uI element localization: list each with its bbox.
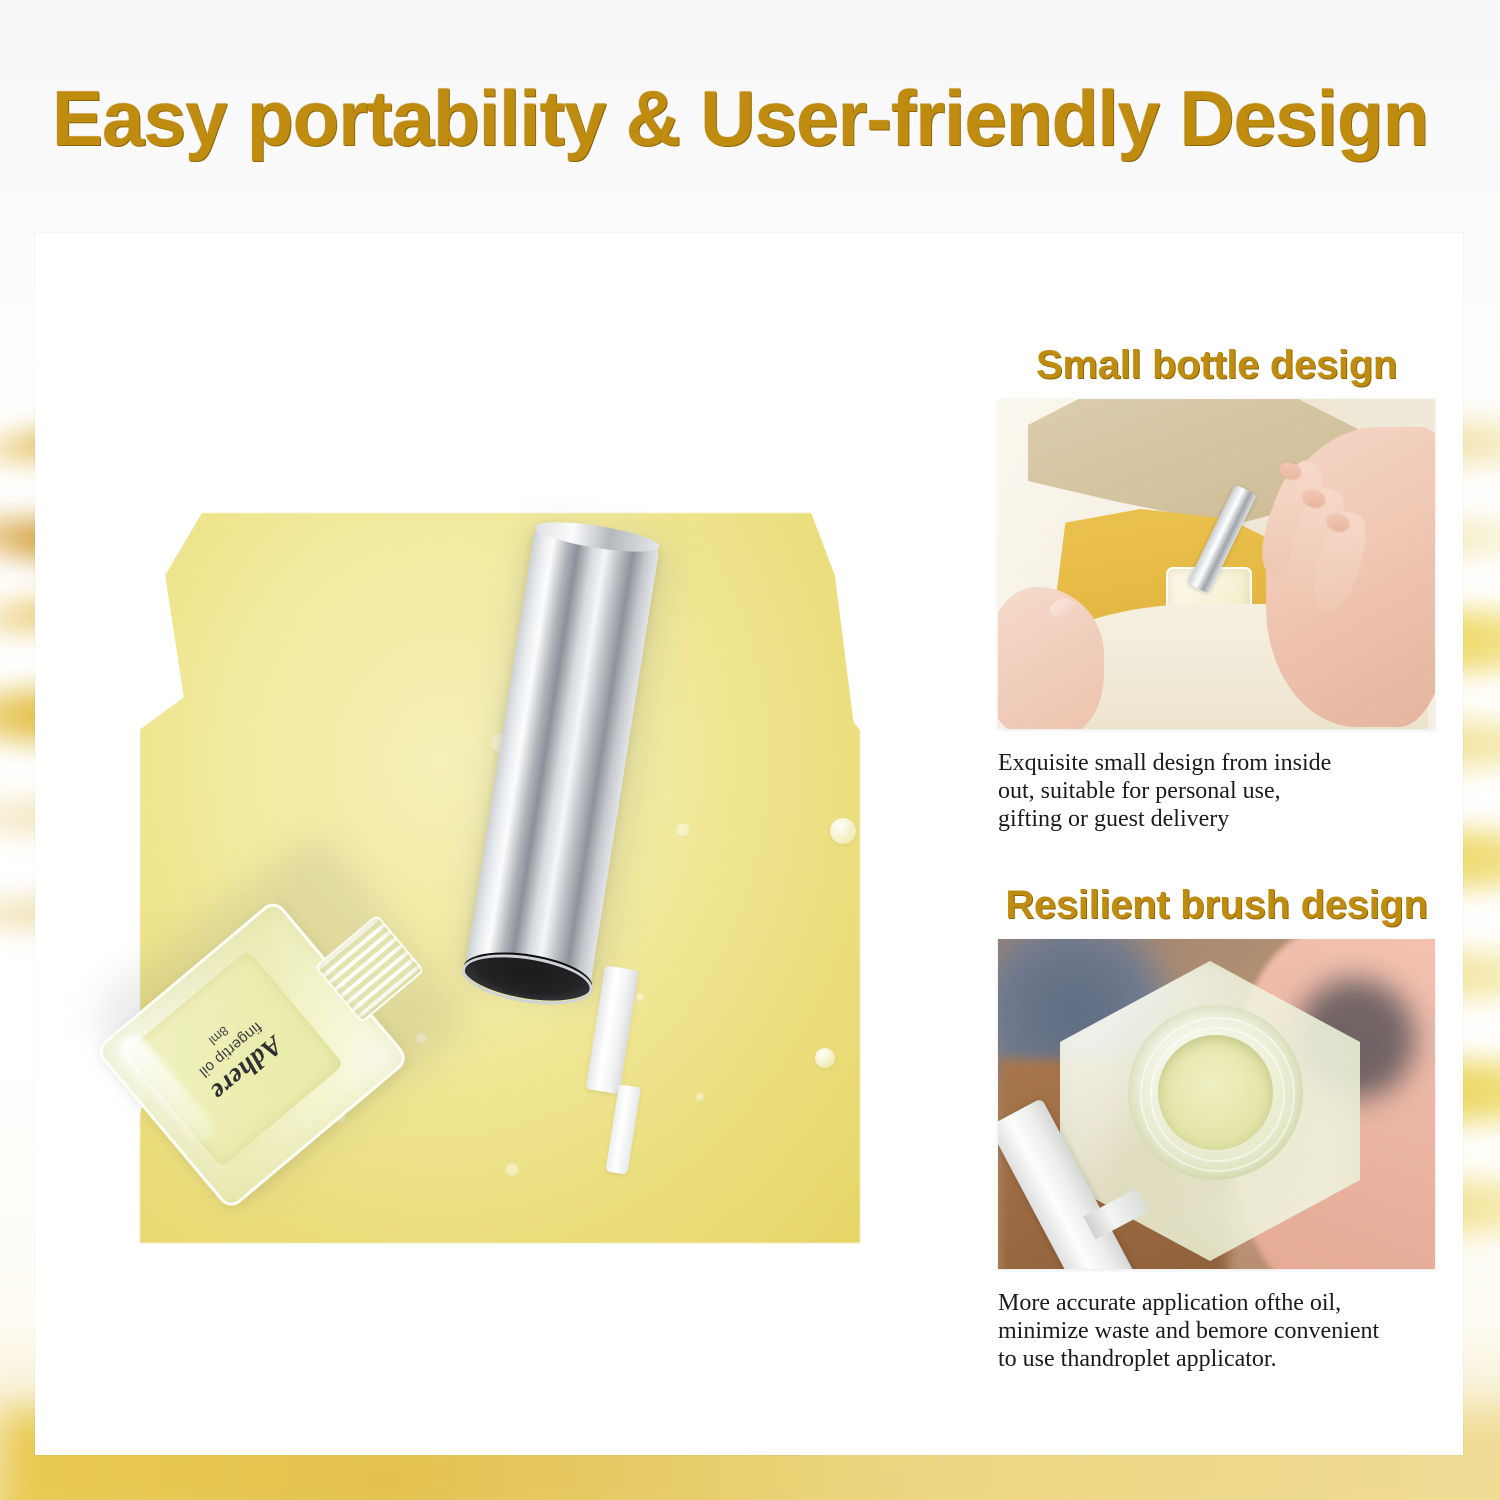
page-title: Easy portability & User-friendly Design [52, 78, 1424, 158]
oil-droplet [815, 1048, 835, 1068]
oil-bubble [505, 1163, 519, 1177]
content-panel: Adhere fingertip oil 8ml Small bottle de… [35, 233, 1463, 1455]
feature-heading-brush: Resilient brush design [998, 883, 1435, 927]
caption-line: More accurate application ofthe oil, [998, 1289, 1435, 1317]
oil-bubble [695, 1093, 704, 1102]
caption-line: gifting or guest delivery [998, 805, 1435, 833]
bottle-mouth-inner [1158, 1035, 1273, 1150]
caption-line: out, suitable for personal use, [998, 777, 1435, 805]
feature-heading-small-bottle: Small bottle design [998, 343, 1435, 387]
caption-line: Exquisite small design from inside [998, 749, 1435, 777]
caption-line: to use thandroplet applicator. [998, 1345, 1435, 1373]
feature-caption-small-bottle: Exquisite small design from inside out, … [998, 749, 1435, 833]
feature-caption-brush: More accurate application ofthe oil, min… [998, 1289, 1435, 1373]
feature-column: Small bottle design [970, 233, 1463, 1455]
oil-bubble [675, 823, 690, 838]
marketing-infographic: Easy portability & User-friendly Design [0, 0, 1500, 1500]
feature-photo-brush [998, 939, 1435, 1269]
feature-block-small-bottle: Small bottle design [998, 343, 1435, 833]
oil-bubble [635, 993, 645, 1003]
hero-product-image: Adhere fingertip oil 8ml [35, 233, 965, 1455]
oil-droplet [830, 818, 856, 844]
feature-block-brush: Resilient brush design [998, 883, 1435, 1373]
feature-photo-small-bottle [998, 399, 1435, 729]
caption-line: minimize waste and bemore convenient [998, 1317, 1435, 1345]
